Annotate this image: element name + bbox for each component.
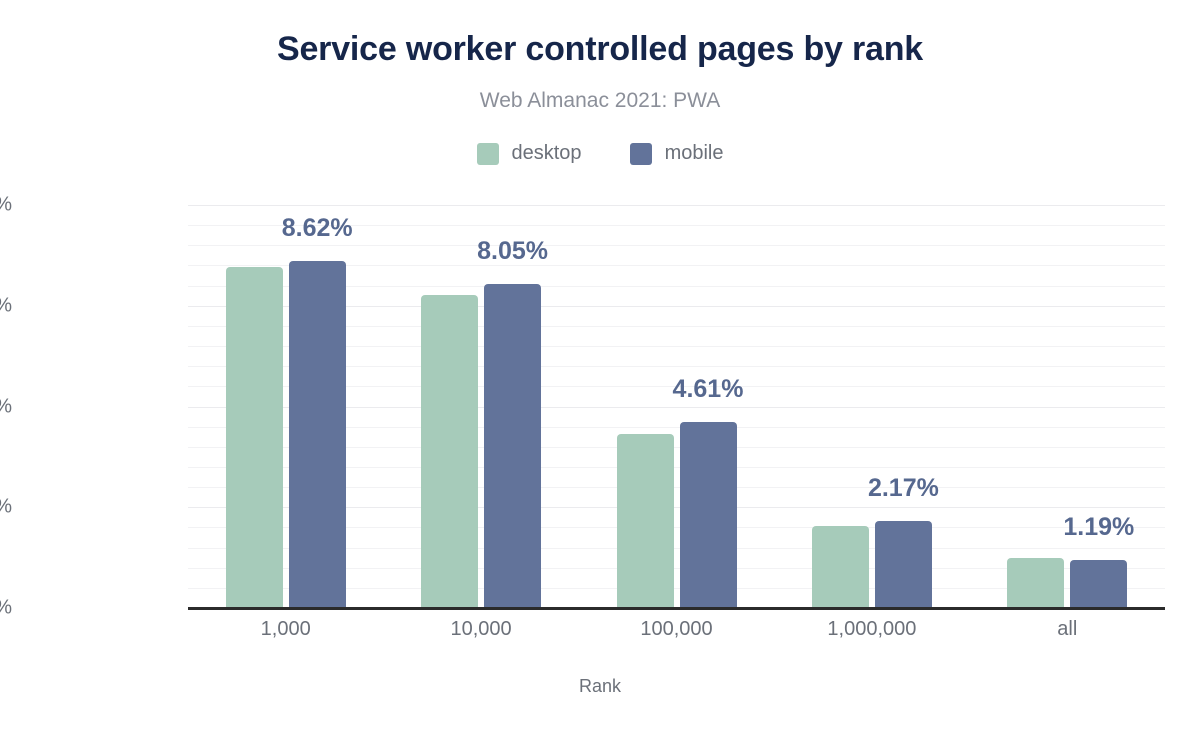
bar-desktop[interactable] bbox=[617, 434, 674, 608]
bar-data-label: 8.05% bbox=[477, 237, 548, 266]
bar-mobile[interactable] bbox=[289, 261, 346, 608]
x-axis-label: Rank bbox=[0, 676, 1200, 697]
chart-subtitle: Web Almanac 2021: PWA bbox=[0, 89, 1200, 113]
bar-mobile[interactable] bbox=[1070, 560, 1127, 608]
legend-swatch-desktop bbox=[477, 143, 499, 165]
x-tick-label: 1,000 bbox=[261, 618, 311, 641]
plot-area bbox=[188, 205, 1165, 608]
legend-label-mobile: mobile bbox=[665, 142, 724, 165]
y-tick-label: 0.00% bbox=[0, 597, 12, 620]
legend-item-mobile[interactable]: mobile bbox=[630, 142, 724, 165]
x-tick-label: all bbox=[1057, 618, 1077, 641]
chart-legend: desktop mobile bbox=[0, 142, 1200, 165]
chart-figure: Service worker controlled pages by rank … bbox=[0, 0, 1200, 742]
chart-title: Service worker controlled pages by rank bbox=[0, 30, 1200, 69]
bar-data-label: 4.61% bbox=[673, 375, 744, 404]
x-tick-label: 1,000,000 bbox=[827, 618, 916, 641]
bar-data-label: 8.62% bbox=[282, 214, 353, 243]
bar-mobile[interactable] bbox=[875, 521, 932, 608]
bar-desktop[interactable] bbox=[226, 267, 283, 608]
bar-mobile[interactable] bbox=[484, 284, 541, 608]
x-axis-line bbox=[188, 607, 1165, 610]
bar-desktop[interactable] bbox=[1007, 558, 1064, 608]
bar-data-label: 2.17% bbox=[868, 474, 939, 503]
y-tick-label: 10.00% bbox=[0, 194, 12, 217]
y-tick-label: 5.00% bbox=[0, 395, 12, 418]
bar-data-label: 1.19% bbox=[1063, 513, 1134, 542]
y-tick-label: 2.50% bbox=[0, 496, 12, 519]
gridline-major bbox=[188, 205, 1165, 206]
legend-label-desktop: desktop bbox=[512, 142, 582, 165]
legend-swatch-mobile bbox=[630, 143, 652, 165]
bar-mobile[interactable] bbox=[680, 422, 737, 608]
legend-item-desktop[interactable]: desktop bbox=[477, 142, 582, 165]
x-tick-label: 100,000 bbox=[640, 618, 712, 641]
y-tick-label: 7.50% bbox=[0, 294, 12, 317]
bar-desktop[interactable] bbox=[812, 526, 869, 608]
bar-desktop[interactable] bbox=[421, 295, 478, 608]
gridline-minor bbox=[188, 245, 1165, 246]
x-tick-label: 10,000 bbox=[451, 618, 512, 641]
